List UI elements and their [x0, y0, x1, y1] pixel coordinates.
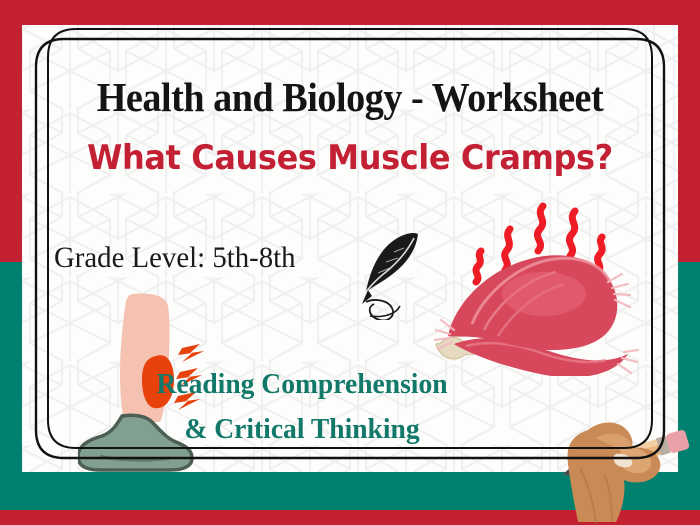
footer-line-critical-thinking: & Critical Thinking [36, 413, 568, 446]
footer-line-reading-comprehension: Reading Comprehension [36, 368, 568, 401]
text-layer: Health and Biology - Worksheet What Caus… [22, 25, 678, 472]
grade-level-label: Grade Level: 5th-8th [54, 241, 296, 275]
worksheet-subtitle: What Causes Muscle Cramps? [42, 138, 659, 178]
worksheet-cover-poster: Health and Biology - Worksheet What Caus… [0, 0, 700, 525]
page-title: Health and Biology - Worksheet [45, 73, 655, 121]
